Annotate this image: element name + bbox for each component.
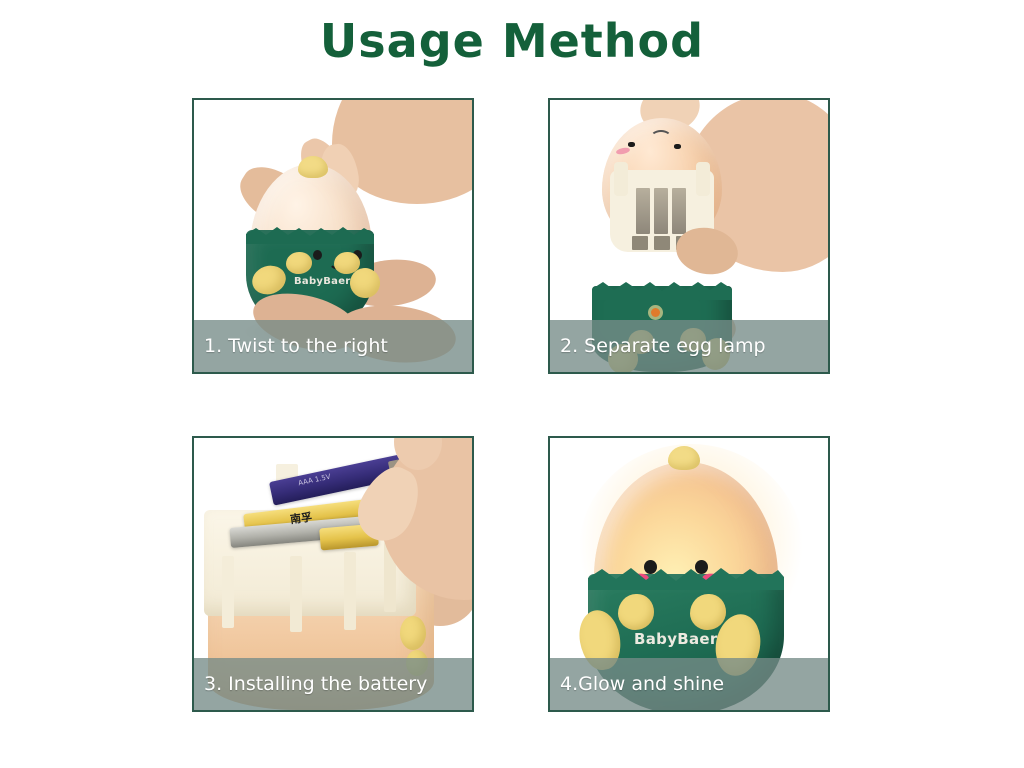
step-4-caption-bar: 4.Glow and shine	[550, 658, 828, 710]
step-1-caption-bar: 1. Twist to the right	[194, 320, 472, 372]
egg-tuft	[298, 156, 328, 178]
step-2-caption-bar: 2. Separate egg lamp	[550, 320, 828, 372]
egg-wing-left	[618, 594, 654, 630]
step-3-caption: 3. Installing the battery	[194, 673, 427, 695]
step-3-photo: AAA 1.5V 南孚 3. Installing the battery	[194, 438, 472, 710]
step-1-caption: 1. Twist to the right	[194, 335, 388, 357]
shell-zigzag-edge	[246, 226, 374, 244]
battery-contact	[672, 188, 686, 234]
egg-eye-left	[628, 142, 635, 147]
step-3-caption-bar: 3. Installing the battery	[194, 658, 472, 710]
egg-wing-right	[690, 594, 726, 630]
brand-label: BabyBaer	[294, 276, 351, 287]
shell-zigzag-edge	[588, 566, 784, 590]
step-4-caption: 4.Glow and shine	[550, 673, 724, 695]
housing-rib	[614, 162, 628, 196]
egg-wing-left	[286, 252, 312, 274]
compartment-rib	[344, 552, 356, 630]
step-panel-3: AAA 1.5V 南孚 3. Installing the battery	[192, 436, 474, 712]
compartment-rib	[290, 556, 302, 632]
usage-method-infographic: Usage Method	[0, 0, 1024, 768]
step-2-photo: 2. Separate egg lamp	[550, 100, 828, 372]
spring-terminal	[632, 236, 648, 250]
step-2-caption: 2. Separate egg lamp	[550, 335, 766, 357]
shell-base-zigzag-edge	[592, 280, 732, 300]
step-panel-1: BabyBaer 1. Twist to the right	[192, 98, 474, 374]
step-1-photo: BabyBaer 1. Twist to the right	[194, 100, 472, 372]
egg-eye-left	[313, 250, 322, 260]
battery-contact	[654, 188, 668, 234]
step-4-photo: BabyBaer 4.Glow and shine	[550, 438, 828, 710]
page-title: Usage Method	[0, 14, 1024, 68]
battery-contact	[636, 188, 650, 234]
spring-terminal	[654, 236, 670, 250]
egg-smile	[650, 130, 672, 146]
indicator-dot	[651, 308, 660, 317]
brand-label: BabyBaer	[634, 630, 718, 648]
step-panel-4: BabyBaer 4.Glow and shine	[548, 436, 830, 712]
battery-brand-text: 南孚	[289, 509, 313, 528]
egg-eye-right	[674, 144, 681, 149]
lamp-foot-right	[400, 616, 426, 650]
egg-tuft	[668, 446, 700, 470]
housing-rib	[696, 162, 710, 196]
step-panel-2: 2. Separate egg lamp	[548, 98, 830, 374]
compartment-rib	[222, 556, 234, 628]
